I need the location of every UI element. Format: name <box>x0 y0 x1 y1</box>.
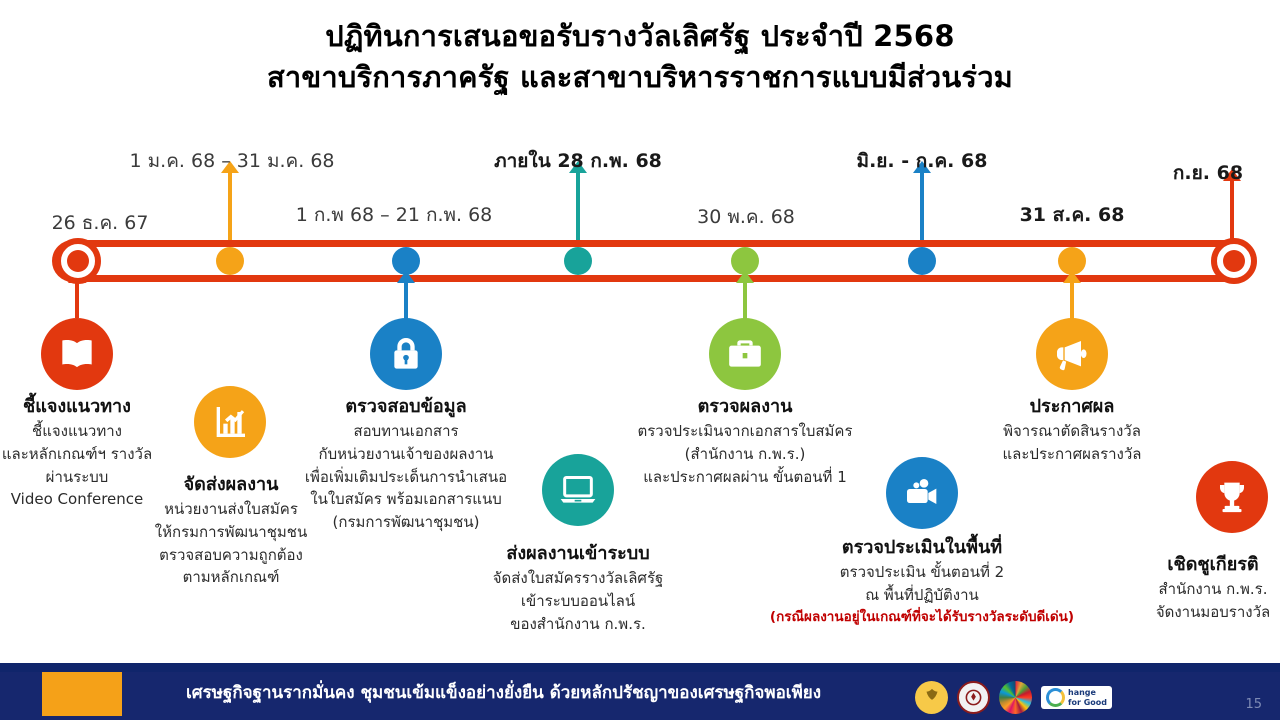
laptop-icon <box>542 454 614 526</box>
ministry-seal-logo-icon <box>957 681 990 714</box>
milestone-text-block: เชิดชูเกียรติสำนักงาน ก.พ.ร.จัดงานมอบราง… <box>1156 552 1270 624</box>
milestone-heading: ตรวจสอบข้อมูล <box>305 394 507 420</box>
video-camera-icon <box>886 457 958 529</box>
milestone-detail-line: เพื่อเพิ่มเติมประเด็นการนำเสนอ <box>305 466 507 489</box>
connector-line <box>1230 180 1234 240</box>
milestone-detail-line: (สำนักงาน ก.พ.ร.) <box>637 443 852 466</box>
connector-line <box>75 282 79 318</box>
change-for-good-logo: hange for Good <box>1041 686 1112 709</box>
milestone-heading: เชิดชูเกียรติ <box>1156 552 1270 578</box>
timeline-node[interactable] <box>216 247 244 275</box>
milestone-detail-line: ตรวจสอบความถูกต้อง <box>155 544 307 567</box>
connector-line <box>576 172 580 240</box>
milestone-heading: ส่งผลงานเข้าระบบ <box>493 541 664 567</box>
milestone-detail-line: (กรมการพัฒนาชุมชน) <box>305 511 507 534</box>
milestone-text-block: ชี้แจงแนวทางชี้แจงแนวทางและหลักเกณฑ์ฯ รา… <box>2 394 152 511</box>
milestone-text-block: ประกาศผลพิจารณาตัดสินรางวัลและประกาศผลรา… <box>1003 394 1142 466</box>
connector-line <box>920 172 924 240</box>
milestone-detail-line: สอบทานเอกสาร <box>305 420 507 443</box>
milestone-date-label: มิ.ย. - ก.ค. 68 <box>857 146 988 176</box>
milestone-text-block: ตรวจประเมินในพื้นที่ตรวจประเมิน ขั้นตอนท… <box>770 535 1074 627</box>
footer-bar: เศรษฐกิจฐานรากมั่นคง ชุมชนเข้มแข็งอย่างย… <box>0 663 1280 720</box>
milestone-detail-line: ชี้แจงแนวทาง <box>2 420 152 443</box>
milestone-detail-line: และประกาศผลผ่าน ขั้นตอนที่ 1 <box>637 466 852 489</box>
milestone-detail-line: Video Conference <box>2 488 152 511</box>
connector-line <box>743 282 747 320</box>
milestone-detail-line: เข้าระบบออนไลน์ <box>493 590 664 613</box>
milestone-text-block: ตรวจสอบข้อมูลสอบทานเอกสารกับหน่วยงานเจ้า… <box>305 394 507 534</box>
timeline-start-cap <box>55 238 101 284</box>
milestone-detail-line: ตรวจประเมิน ขั้นตอนที่ 2 <box>770 561 1074 584</box>
milestone-detail-line: ผ่านระบบ <box>2 466 152 489</box>
milestone-detail-line: กับหน่วยงานเจ้าของผลงาน <box>305 443 507 466</box>
milestone-detail-line: สำนักงาน ก.พ.ร. <box>1156 578 1270 601</box>
timeline-node[interactable] <box>908 247 936 275</box>
sdg-wheel-logo-icon <box>999 681 1032 714</box>
milestone-date-label: 1 ม.ค. 68 – 31 ม.ค. 68 <box>130 146 335 176</box>
timeline-node[interactable] <box>731 247 759 275</box>
milestone-detail-line: ของสำนักงาน ก.พ.ร. <box>493 613 664 636</box>
milestone-date-label: 31 ส.ค. 68 <box>1020 200 1125 230</box>
cfg-text: hange for Good <box>1068 688 1107 706</box>
milestone-date-label: 30 พ.ค. 68 <box>697 202 795 232</box>
milestone-date-label: 1 ก.พ 68 – 21 ก.พ. 68 <box>296 200 493 230</box>
book-icon <box>41 318 113 390</box>
timeline-node[interactable] <box>392 247 420 275</box>
milestone-detail-line: และประกาศผลรางวัล <box>1003 443 1142 466</box>
timeline-node[interactable] <box>1058 247 1086 275</box>
milestone-note: (กรณีผลงานอยู่ในเกณฑ์ที่จะได้รับรางวัลระ… <box>770 607 1074 627</box>
milestone-text-block: ตรวจผลงานตรวจประเมินจากเอกสารใบสมัคร(สำน… <box>637 394 852 488</box>
milestone-detail-line: ตามหลักเกณฑ์ <box>155 566 307 589</box>
page-number: 15 <box>1245 697 1262 712</box>
cfg-line-2: for Good <box>1068 698 1107 707</box>
footer-logos: hange for Good <box>915 681 1112 714</box>
milestone-date-label: ภายใน 28 ก.พ. 68 <box>494 146 662 176</box>
milestone-detail-line: และหลักเกณฑ์ฯ รางวัล <box>2 443 152 466</box>
milestone-detail-line: จัดส่งใบสมัครรางวัลเลิศรัฐ <box>493 567 664 590</box>
milestone-detail-line: จัดงานมอบรางวัล <box>1156 601 1270 624</box>
milestone-heading: ชี้แจงแนวทาง <box>2 394 152 420</box>
milestone-date-label: 26 ธ.ค. 67 <box>52 208 149 238</box>
footer-orange-block <box>42 672 122 716</box>
milestone-detail-line: ตรวจประเมินจากเอกสารใบสมัคร <box>637 420 852 443</box>
timeline-end-cap <box>1211 238 1257 284</box>
briefcase-icon <box>709 318 781 390</box>
slide-canvas: ปฏิทินการเสนอขอรับรางวัลเลิศรัฐ ประจำปี … <box>0 0 1280 720</box>
trophy-icon <box>1196 461 1268 533</box>
milestone-heading: จัดส่งผลงาน <box>155 472 307 498</box>
milestone-detail-line: ให้กรมการพัฒนาชุมชน <box>155 521 307 544</box>
milestone-detail-line: หน่วยงานส่งใบสมัคร <box>155 498 307 521</box>
milestone-text-block: ส่งผลงานเข้าระบบจัดส่งใบสมัครรางวัลเลิศร… <box>493 541 664 635</box>
lock-icon <box>370 318 442 390</box>
title-line-2: สาขาบริการภาครัฐ และสาขาบริหารราชการแบบม… <box>0 57 1280 98</box>
cfg-line-1: hange <box>1068 688 1096 697</box>
title-line-1: ปฏิทินการเสนอขอรับรางวัลเลิศรัฐ ประจำปี … <box>0 16 1280 57</box>
milestone-detail-line: พิจารณาตัดสินรางวัล <box>1003 420 1142 443</box>
garuda-logo-icon <box>915 681 948 714</box>
footer-slogan: เศรษฐกิจฐานรากมั่นคง ชุมชนเข้มแข็งอย่างย… <box>186 679 821 706</box>
timeline-node[interactable] <box>564 247 592 275</box>
milestone-detail-line: ณ พื้นที่ปฏิบัติงาน <box>770 584 1074 607</box>
page-title: ปฏิทินการเสนอขอรับรางวัลเลิศรัฐ ประจำปี … <box>0 16 1280 98</box>
connector-line <box>404 282 408 320</box>
milestone-heading: ตรวจประเมินในพื้นที่ <box>770 535 1074 561</box>
bar-chart-icon <box>194 386 266 458</box>
connector-line <box>1070 282 1074 320</box>
cfg-circle-icon <box>1046 688 1065 707</box>
megaphone-icon <box>1036 318 1108 390</box>
milestone-detail-line: ในใบสมัคร พร้อมเอกสารแนบ <box>305 488 507 511</box>
milestone-date-label: ก.ย. 68 <box>1173 158 1243 188</box>
connector-line <box>228 172 232 240</box>
milestone-heading: ประกาศผล <box>1003 394 1142 420</box>
milestone-text-block: จัดส่งผลงานหน่วยงานส่งใบสมัครให้กรมการพั… <box>155 472 307 589</box>
milestone-heading: ตรวจผลงาน <box>637 394 852 420</box>
